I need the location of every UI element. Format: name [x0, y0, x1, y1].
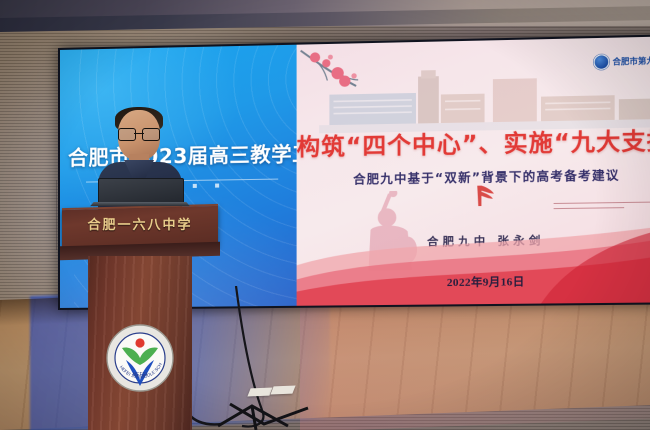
white-tape-marker — [270, 386, 295, 395]
glasses-icon — [118, 128, 160, 139]
podium: 合肥一六八中学 HEFEI HEFEI 168 MIDDLE SCHOOL — [62, 206, 218, 430]
plum-blossom-icon — [299, 47, 387, 112]
slide-main-title: 构筑“四个中心”、实施“九大支撑” — [297, 121, 650, 162]
school-badge-label: 合肥市第九中学 — [613, 55, 650, 68]
party-emblem-icon — [473, 181, 498, 210]
hefei-168-middle-school-emblem-icon: HEFEI HEFEI 168 MIDDLE SCHOOL — [106, 324, 174, 392]
podium-nameplate: 合肥一六八中学 — [62, 214, 218, 233]
photo-scene: 合肥市2023届高三教学工作会议 — [0, 0, 650, 430]
school-badge-icon: 合肥市第九中学 — [594, 53, 650, 70]
school-badge-circle — [594, 54, 610, 70]
laptop-keyboard — [90, 202, 190, 206]
white-tape-marker — [247, 388, 272, 397]
laptop-icon — [92, 178, 188, 208]
laptop-screen — [98, 178, 184, 204]
microphone-stand-base-icon — [212, 400, 342, 430]
presentation-slide: 合肥市第九中学 构筑“四个中心”、实施“九大支撑” 合肥九中基于“双新”背景下的… — [297, 36, 650, 306]
